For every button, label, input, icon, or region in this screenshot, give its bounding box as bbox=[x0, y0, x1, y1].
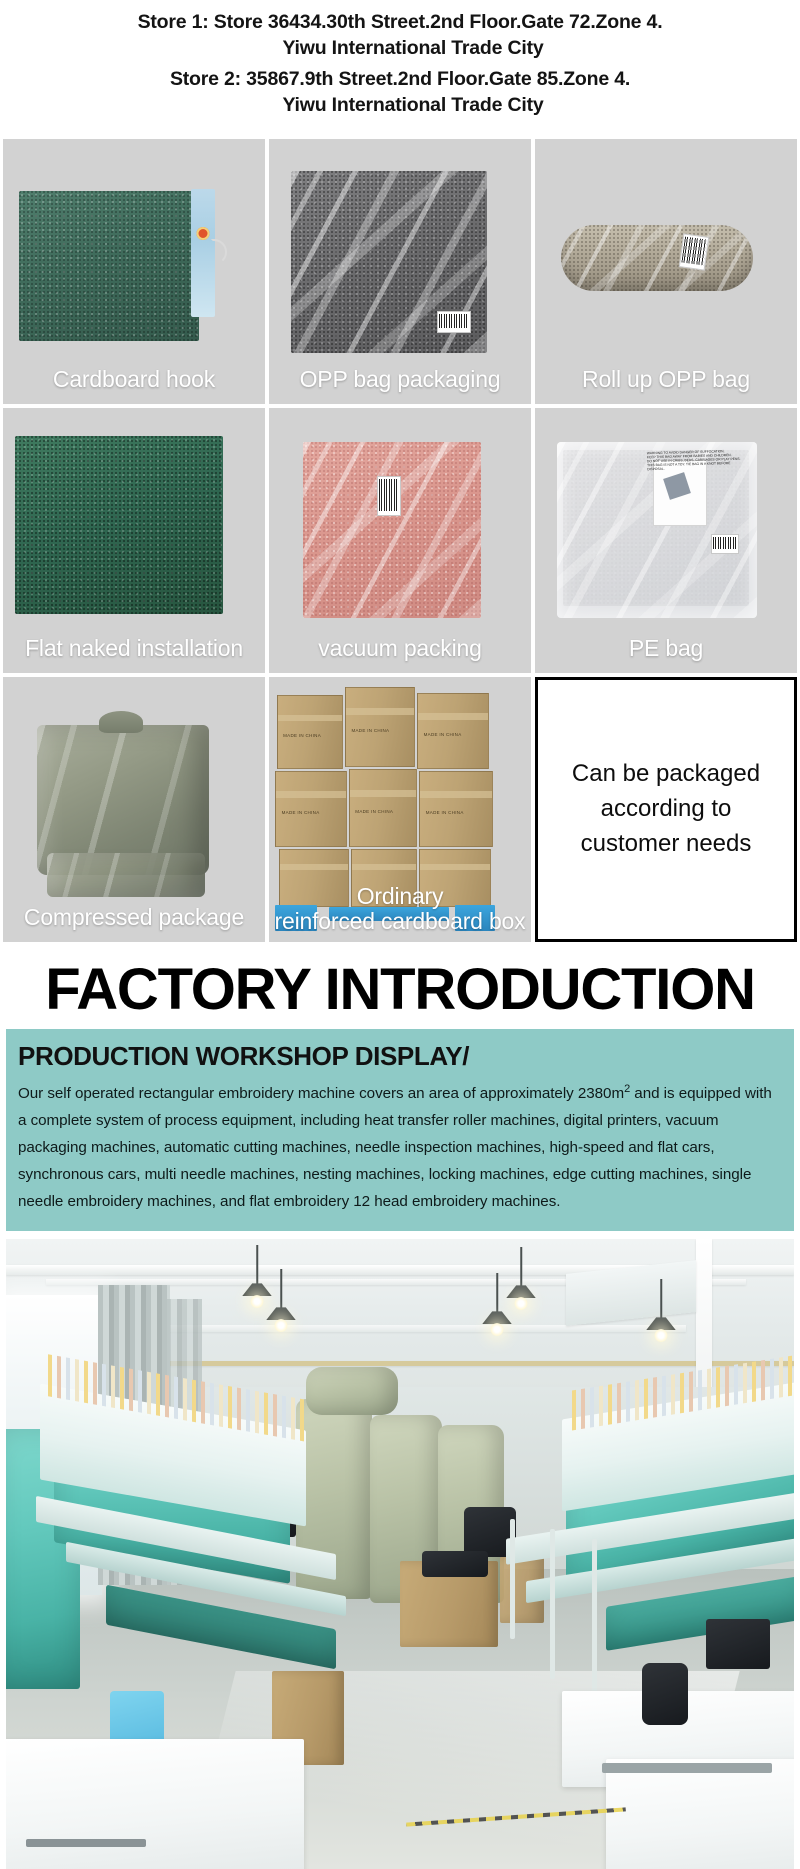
fabric-bag bbox=[306, 1367, 398, 1415]
table-hardware bbox=[602, 1763, 772, 1773]
production-workshop-heading: PRODUCTION WORKSHOP DISPLAY/ bbox=[18, 1041, 782, 1072]
store-entry-2: Store 2: 35867.9th Street.2nd Floor.Gate… bbox=[6, 67, 794, 118]
packaging-label: vacuum packing bbox=[269, 636, 531, 661]
store-1-line-2: Yiwu International Trade City bbox=[6, 36, 794, 62]
support-post bbox=[592, 1539, 597, 1699]
body-part-1: Our self operated rectangular embroidery… bbox=[18, 1085, 624, 1102]
custom-note-line-2: according to bbox=[572, 792, 760, 827]
packaging-label-line-1: Ordinary bbox=[269, 884, 531, 909]
packaging-cell-flat-naked[interactable]: Flat naked installation bbox=[3, 408, 265, 673]
packaging-cell-cardboard-hook[interactable]: Cardboard hook bbox=[3, 139, 265, 404]
machine-component bbox=[706, 1619, 770, 1669]
flat-naked-photo bbox=[3, 408, 265, 673]
packaging-label: Cardboard hook bbox=[3, 367, 265, 392]
custom-note-line-1: Can be packaged bbox=[572, 757, 760, 792]
work-table-front-left bbox=[6, 1739, 304, 1869]
support-post bbox=[510, 1519, 515, 1639]
packaging-label-line-2: reinforced cardboard box bbox=[269, 909, 531, 934]
packaging-cell-vacuum-packing[interactable]: vacuum packing bbox=[269, 408, 531, 673]
production-workshop-panel: PRODUCTION WORKSHOP DISPLAY/ Our self op… bbox=[6, 1029, 794, 1231]
packaging-label: Flat naked installation bbox=[3, 636, 265, 661]
opp-bag-photo bbox=[269, 139, 531, 404]
table-hardware bbox=[26, 1839, 146, 1847]
body-part-2: and is equipped with a complete system o… bbox=[18, 1085, 772, 1210]
packaging-label: OPP bag packaging bbox=[269, 367, 531, 392]
store-2-line-2: Yiwu International Trade City bbox=[6, 93, 794, 119]
packaging-label: PE bag bbox=[535, 636, 797, 661]
custom-note-line-3: customer needs bbox=[572, 827, 760, 862]
support-post bbox=[550, 1529, 555, 1679]
packaging-label: Compressed package bbox=[3, 905, 265, 930]
folded-fabric bbox=[422, 1551, 488, 1577]
workshop-photo bbox=[6, 1239, 794, 1869]
store-entry-1: Store 1: Store 36434.30th Street.2nd Flo… bbox=[6, 10, 794, 61]
roll-up-opp-bag-photo bbox=[535, 139, 797, 404]
factory-introduction-title: FACTORY INTRODUCTION bbox=[0, 960, 800, 1019]
cardboard-hook-photo bbox=[3, 139, 265, 404]
product-detail-page: Store 1: Store 36434.30th Street.2nd Flo… bbox=[0, 0, 800, 1869]
production-workshop-body: Our self operated rectangular embroidery… bbox=[18, 1080, 782, 1215]
ceiling-beam bbox=[126, 1325, 686, 1332]
pe-bag-photo: WARNING TO AVOID DANGER OF SUFFOCATION, … bbox=[535, 408, 797, 673]
packaging-cell-compressed-package[interactable]: Compressed package bbox=[3, 677, 265, 942]
packaging-cell-cardboard-box[interactable]: MADE IN CHINA MADE IN CHINA MADE IN CHIN… bbox=[269, 677, 531, 942]
thread-cone bbox=[642, 1663, 688, 1725]
store-2-line-1: Store 2: 35867.9th Street.2nd Floor.Gate… bbox=[6, 67, 794, 93]
packaging-cell-opp-bag[interactable]: OPP bag packaging bbox=[269, 139, 531, 404]
packaging-cell-pe-bag[interactable]: WARNING TO AVOID DANGER OF SUFFOCATION, … bbox=[535, 408, 797, 673]
packaging-label: Ordinary reinforced cardboard box bbox=[269, 884, 531, 934]
packaging-options-grid: Cardboard hook OPP bag packaging Roll up… bbox=[0, 139, 800, 942]
work-table-front-right-lower bbox=[606, 1759, 794, 1869]
packaging-cell-roll-up-opp-bag[interactable]: Roll up OPP bag bbox=[535, 139, 797, 404]
custom-packaging-note: Can be packaged according to customer ne… bbox=[558, 757, 774, 861]
packaging-cell-custom-note: Can be packaged according to customer ne… bbox=[535, 677, 797, 942]
store-1-line-1: Store 1: Store 36434.30th Street.2nd Flo… bbox=[6, 10, 794, 36]
store-address-block: Store 1: Store 36434.30th Street.2nd Flo… bbox=[0, 0, 800, 125]
packaging-label: Roll up OPP bag bbox=[535, 367, 797, 392]
compressed-package-photo bbox=[3, 677, 265, 942]
vacuum-packing-photo bbox=[269, 408, 531, 673]
